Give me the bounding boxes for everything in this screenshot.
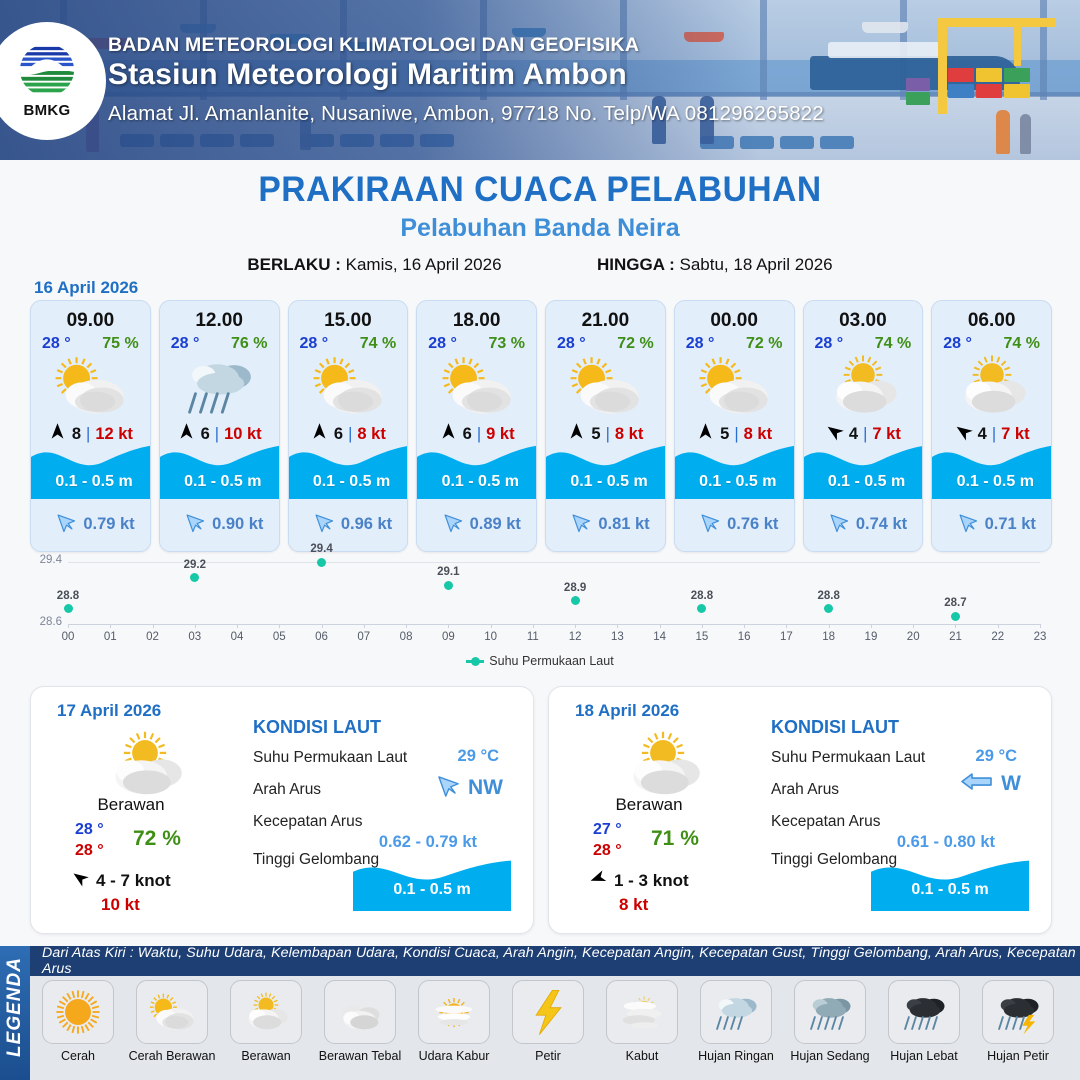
cloudy-sun-icon — [804, 355, 923, 417]
hourly-card: 06.00 28 ° 74 % 4 | 7 kt 0.1 - 0.5 m 0.7… — [931, 300, 1052, 552]
lightning-icon — [512, 980, 584, 1044]
chart-x-tick-label: 04 — [222, 631, 252, 643]
card-temperature: 28 ° — [943, 335, 972, 353]
card-temperature: 28 ° — [815, 335, 844, 353]
sea-condition-heading: KONDISI LAUT — [771, 717, 899, 738]
legend-item-label: Berawan — [241, 1049, 290, 1063]
chart-point-label: 28.9 — [555, 582, 595, 594]
sun-cloud-icon — [417, 355, 536, 417]
chart-data-point — [697, 604, 706, 613]
legend-item-label: Hujan Ringan — [698, 1049, 774, 1063]
card-temperature: 28 ° — [557, 335, 586, 353]
hourly-card: 12.00 28 ° 76 % 6 | 10 kt 0.1 - 0.5 m 0.… — [159, 300, 280, 552]
legend-item-label: Berawan Tebal — [319, 1049, 401, 1063]
chart-x-tick-label: 02 — [138, 631, 168, 643]
chart-x-tick-label: 11 — [518, 631, 548, 643]
light-rain-icon — [160, 355, 279, 417]
daily-temp-min: 28 ° — [75, 821, 104, 839]
card-current-speed: 0.90 kt — [212, 515, 263, 534]
legend-item: Hujan Petir — [974, 980, 1062, 1076]
wave-height-value: 0.1 - 0.5 m — [353, 881, 511, 899]
current-direction-value-group: NW — [433, 771, 503, 804]
chart-x-tickmark — [786, 624, 787, 628]
chart-x-tickmark — [660, 624, 661, 628]
chart-point-label: 28.8 — [48, 590, 88, 602]
current-direction-value-group: W — [960, 771, 1021, 797]
chart-data-point — [444, 581, 453, 590]
daily-forecast-card: 17 April 2026 Berawan 28 ° 28 ° 72 % 4 -… — [30, 686, 534, 934]
hourly-forecast-row: 09.00 28 ° 75 % 8 | 12 kt 0.1 - 0.5 m 0.… — [30, 300, 1052, 552]
sst-value: 29 °C — [976, 747, 1017, 766]
daily-condition: Berawan — [51, 795, 211, 815]
chart-x-tick-label: 22 — [983, 631, 1013, 643]
daily-temp-max: 28 ° — [593, 842, 622, 860]
chart-x-tick-label: 16 — [729, 631, 759, 643]
hingga-value: Sabtu, 18 April 2026 — [680, 255, 833, 274]
agency-name: BADAN METEOROLOGI KLIMATOLOGI DAN GEOFIS… — [108, 34, 639, 57]
wind-direction-arrow-icon — [71, 869, 89, 892]
legend-strip-label: LEGENDA — [4, 954, 26, 1060]
chart-x-tick-label: 06 — [307, 631, 337, 643]
legend-item-label: Hujan Lebat — [890, 1049, 957, 1063]
current-speed-value: 0.62 - 0.79 kt — [379, 833, 477, 852]
card-current: 0.76 kt — [675, 510, 795, 539]
card-humidity: 74 % — [360, 335, 396, 353]
card-wave-height: 0.1 - 0.5 m — [417, 473, 537, 491]
card-current-speed: 0.74 kt — [856, 515, 907, 534]
legend-item-label: Cerah — [61, 1049, 95, 1063]
card-humidity: 72 % — [746, 335, 782, 353]
page-title: PRAKIRAAN CUACA PELABUHAN — [22, 170, 1059, 210]
chart-x-tick-label: 13 — [602, 631, 632, 643]
station-name: Stasiun Meteorologi Maritim Ambon — [108, 58, 627, 92]
sun-cloud-icon — [546, 355, 665, 417]
card-time: 12.00 — [160, 310, 279, 332]
chart-x-tick-label: 00 — [53, 631, 83, 643]
legend-item: Hujan Ringan — [692, 980, 780, 1076]
chart-legend-marker-icon — [466, 660, 484, 663]
validity-row: BERLAKU : Kamis, 16 April 2026 HINGGA : … — [0, 255, 1080, 275]
card-wave-height: 0.1 - 0.5 m — [31, 473, 151, 491]
legend-item: Udara Kabur — [410, 980, 498, 1076]
current-direction-arrow-icon — [568, 510, 592, 539]
legend-item: Hujan Sedang — [786, 980, 874, 1076]
daily-humidity: 71 % — [651, 827, 699, 851]
chart-x-tickmark — [1040, 624, 1041, 628]
wave-height-value: 0.1 - 0.5 m — [871, 881, 1029, 899]
chart-x-tick-label: 20 — [898, 631, 928, 643]
legend-item-label: Kabut — [626, 1049, 659, 1063]
chart-x-tickmark — [617, 624, 618, 628]
thunderstorm-icon — [982, 980, 1054, 1044]
chart-point-label: 28.8 — [682, 590, 722, 602]
card-current: 0.79 kt — [31, 510, 151, 539]
card-wave-height: 0.1 - 0.5 m — [546, 473, 666, 491]
daily-wind-speed: 1 - 3 knot — [614, 871, 689, 891]
chart-x-tick-label: 23 — [1025, 631, 1055, 643]
card-current-speed: 0.79 kt — [83, 515, 134, 534]
chart-x-tickmark — [406, 624, 407, 628]
chart-x-tick-label: 09 — [433, 631, 463, 643]
overcast-icon — [324, 980, 396, 1044]
daily-wind-speed: 4 - 7 knot — [96, 871, 171, 891]
current-speed-value: 0.61 - 0.80 kt — [897, 833, 995, 852]
card-humidity: 74 % — [1004, 335, 1040, 353]
current-direction-arrow-icon — [53, 510, 77, 539]
card-current-speed: 0.89 kt — [470, 515, 521, 534]
chart-x-tickmark — [829, 624, 830, 628]
berlaku-value: Kamis, 16 April 2026 — [346, 255, 502, 274]
chart-point-label: 29.2 — [175, 559, 215, 571]
chart-x-tick-label: 12 — [560, 631, 590, 643]
sst-label: Suhu Permukaan Laut — [253, 749, 407, 767]
chart-x-tickmark — [575, 624, 576, 628]
legend-item: Petir — [504, 980, 592, 1076]
page-header: BMKG BADAN METEOROLOGI KLIMATOLOGI DAN G… — [0, 0, 1080, 160]
current-speed-label: Kecepatan Arus — [771, 813, 880, 831]
sea-condition-heading: KONDISI LAUT — [253, 717, 381, 738]
current-direction-arrow-icon — [433, 771, 461, 804]
legend-item-label: Hujan Petir — [987, 1049, 1049, 1063]
card-current-speed: 0.96 kt — [341, 515, 392, 534]
daily-forecast-card: 18 April 2026 Berawan 27 ° 28 ° 71 % 1 -… — [548, 686, 1052, 934]
chart-x-tick-label: 18 — [814, 631, 844, 643]
card-humidity: 72 % — [617, 335, 653, 353]
legend-item: Hujan Lebat — [880, 980, 968, 1076]
chart-data-point — [317, 558, 326, 567]
card-time: 03.00 — [804, 310, 923, 332]
chart-x-tick-label: 05 — [264, 631, 294, 643]
chart-x-tick-label: 19 — [856, 631, 886, 643]
chart-x-tickmark — [364, 624, 365, 628]
current-direction-arrow-icon — [697, 510, 721, 539]
card-current: 0.89 kt — [417, 510, 537, 539]
daily-date: 17 April 2026 — [57, 701, 161, 721]
sun-cloud-icon — [675, 355, 794, 417]
card-wave-height: 0.1 - 0.5 m — [675, 473, 795, 491]
sst-label: Suhu Permukaan Laut — [771, 749, 925, 767]
chart-x-tick-label: 17 — [771, 631, 801, 643]
hourly-card: 18.00 28 ° 73 % 6 | 9 kt 0.1 - 0.5 m 0.8… — [416, 300, 537, 552]
wind-direction-arrow-icon — [589, 869, 607, 892]
chart-x-tickmark — [153, 624, 154, 628]
current-direction-value: W — [1001, 772, 1021, 796]
chart-legend: Suhu Permukaan Laut — [20, 654, 1060, 668]
hourly-card: 09.00 28 ° 75 % 8 | 12 kt 0.1 - 0.5 m 0.… — [30, 300, 151, 552]
chart-x-tickmark — [702, 624, 703, 628]
hourly-card: 00.00 28 ° 72 % 5 | 8 kt 0.1 - 0.5 m 0.7… — [674, 300, 795, 552]
chart-legend-label: Suhu Permukaan Laut — [489, 654, 613, 668]
legend-item-label: Petir — [535, 1049, 561, 1063]
current-direction-arrow-icon — [311, 510, 335, 539]
card-humidity: 75 % — [102, 335, 138, 353]
moderate-rain-icon — [794, 980, 866, 1044]
chart-x-tick-label: 21 — [940, 631, 970, 643]
station-address: Alamat Jl. Amanlanite, Nusaniwe, Ambon, … — [108, 102, 824, 126]
hourly-card: 21.00 28 ° 72 % 5 | 8 kt 0.1 - 0.5 m 0.8… — [545, 300, 666, 552]
fog-icon — [606, 980, 678, 1044]
current-direction-label: Arah Arus — [253, 781, 321, 799]
current-direction-arrow-icon — [182, 510, 206, 539]
chart-data-point — [64, 604, 73, 613]
card-time: 18.00 — [417, 310, 536, 332]
card-time: 15.00 — [289, 310, 408, 332]
chart-x-tickmark — [871, 624, 872, 628]
cloudy-sun-icon — [230, 980, 302, 1044]
chart-point-label: 29.1 — [428, 566, 468, 578]
legend-item: Cerah Berawan — [128, 980, 216, 1076]
chart-data-point — [190, 573, 199, 582]
legend-note: Dari Atas Kiri : Waktu, Suhu Udara, Kele… — [30, 946, 1080, 976]
chart-data-point — [571, 596, 580, 605]
chart-x-tickmark — [322, 624, 323, 628]
chart-x-axis — [68, 624, 1040, 625]
chart-x-tick-label: 03 — [180, 631, 210, 643]
chart-x-tick-label: 07 — [349, 631, 379, 643]
daily-wind: 4 - 7 knot — [71, 869, 171, 892]
card-current: 0.71 kt — [932, 510, 1052, 539]
current-direction-arrow-icon — [960, 771, 994, 797]
chart-y-tick: 28.6 — [24, 616, 62, 628]
daily-wind: 1 - 3 knot — [589, 869, 689, 892]
card-current: 0.90 kt — [160, 510, 280, 539]
chart-x-tickmark — [68, 624, 69, 628]
daily-date: 18 April 2026 — [575, 701, 679, 721]
cloudy-sun-icon — [932, 355, 1051, 417]
current-speed-label: Kecepatan Arus — [253, 813, 362, 831]
logo-label: BMKG — [23, 102, 70, 119]
chart-data-point — [951, 612, 960, 621]
card-current-speed: 0.76 kt — [727, 515, 778, 534]
chart-x-tick-label: 10 — [476, 631, 506, 643]
card-temperature: 28 ° — [428, 335, 457, 353]
daily-temp-min: 27 ° — [593, 821, 622, 839]
chart-x-tickmark — [279, 624, 280, 628]
chart-x-tickmark — [913, 624, 914, 628]
card-temperature: 28 ° — [42, 335, 71, 353]
sun-cloud-icon — [289, 355, 408, 417]
current-direction-arrow-icon — [955, 510, 979, 539]
chart-x-tick-label: 01 — [95, 631, 125, 643]
daily-gust: 10 kt — [101, 895, 140, 915]
legend-strip: LEGENDA — [0, 946, 30, 1080]
chart-x-tick-label: 08 — [391, 631, 421, 643]
sun-cloud-icon — [136, 980, 208, 1044]
chart-x-tickmark — [110, 624, 111, 628]
card-current: 0.96 kt — [289, 510, 409, 539]
card-time: 00.00 — [675, 310, 794, 332]
legend-item-label: Udara Kabur — [419, 1049, 490, 1063]
card-wave-height: 0.1 - 0.5 m — [932, 473, 1052, 491]
card-time: 06.00 — [932, 310, 1051, 332]
hourly-card: 03.00 28 ° 74 % 4 | 7 kt 0.1 - 0.5 m 0.7… — [803, 300, 924, 552]
sun-cloud-icon — [31, 355, 150, 417]
berlaku-label: BERLAKU : — [247, 255, 341, 274]
chart-x-tickmark — [195, 624, 196, 628]
hingga-label: HINGGA : — [597, 255, 675, 274]
card-humidity: 74 % — [875, 335, 911, 353]
chart-point-label: 29.4 — [302, 543, 342, 555]
chart-x-tickmark — [998, 624, 999, 628]
hourly-date-label: 16 April 2026 — [34, 278, 138, 298]
chart-point-label: 28.7 — [935, 597, 975, 609]
hourly-card: 15.00 28 ° 74 % 6 | 8 kt 0.1 - 0.5 m 0.9… — [288, 300, 409, 552]
current-direction-label: Arah Arus — [771, 781, 839, 799]
legend-item-label: Hujan Sedang — [790, 1049, 869, 1063]
current-direction-arrow-icon — [826, 510, 850, 539]
legend-item: Kabut — [598, 980, 686, 1076]
current-direction-arrow-icon — [440, 510, 464, 539]
legend-item-label: Cerah Berawan — [129, 1049, 216, 1063]
card-current-speed: 0.81 kt — [598, 515, 649, 534]
chart-x-tickmark — [533, 624, 534, 628]
card-wave-height: 0.1 - 0.5 m — [804, 473, 924, 491]
chart-x-tickmark — [744, 624, 745, 628]
legend-item: Berawan — [222, 980, 310, 1076]
bmkg-emblem-icon — [16, 43, 78, 101]
sun-icon — [42, 980, 114, 1044]
card-time: 21.00 — [546, 310, 665, 332]
sst-value: 29 °C — [458, 747, 499, 766]
legend-items: Cerah Cerah Berawan Berawan Berawan Teba… — [34, 980, 1076, 1076]
daily-humidity: 72 % — [133, 827, 181, 851]
chart-x-tickmark — [491, 624, 492, 628]
chart-data-point — [824, 604, 833, 613]
sst-chart: 29.428.600010203040506070809101112131415… — [20, 558, 1060, 678]
daily-condition: Berawan — [569, 795, 729, 815]
chart-x-tickmark — [448, 624, 449, 628]
card-temperature: 28 ° — [300, 335, 329, 353]
chart-point-label: 28.8 — [809, 590, 849, 602]
legend-item: Cerah — [34, 980, 122, 1076]
page-subtitle: Pelabuhan Banda Neira — [0, 214, 1080, 243]
current-direction-value: NW — [468, 776, 503, 800]
chart-plot-area: 29.428.600010203040506070809101112131415… — [68, 562, 1040, 624]
card-temperature: 28 ° — [686, 335, 715, 353]
card-wave-height: 0.1 - 0.5 m — [289, 473, 409, 491]
daily-temp-max: 28 ° — [75, 842, 104, 860]
haze-icon — [418, 980, 490, 1044]
daily-forecast-row: 17 April 2026 Berawan 28 ° 28 ° 72 % 4 -… — [30, 686, 1052, 934]
light-rain-icon — [700, 980, 772, 1044]
legend-item: Berawan Tebal — [316, 980, 404, 1076]
card-current: 0.81 kt — [546, 510, 666, 539]
card-wave-height: 0.1 - 0.5 m — [160, 473, 280, 491]
chart-x-tickmark — [237, 624, 238, 628]
legend-bar: LEGENDA Dari Atas Kiri : Waktu, Suhu Uda… — [0, 946, 1080, 1080]
card-humidity: 73 % — [489, 335, 525, 353]
chart-y-tick: 29.4 — [24, 554, 62, 566]
heavy-rain-icon — [888, 980, 960, 1044]
card-current-speed: 0.71 kt — [985, 515, 1036, 534]
card-time: 09.00 — [31, 310, 150, 332]
chart-x-tick-label: 15 — [687, 631, 717, 643]
chart-x-tick-label: 14 — [645, 631, 675, 643]
daily-gust: 8 kt — [619, 895, 648, 915]
card-current: 0.74 kt — [804, 510, 924, 539]
chart-x-tickmark — [955, 624, 956, 628]
